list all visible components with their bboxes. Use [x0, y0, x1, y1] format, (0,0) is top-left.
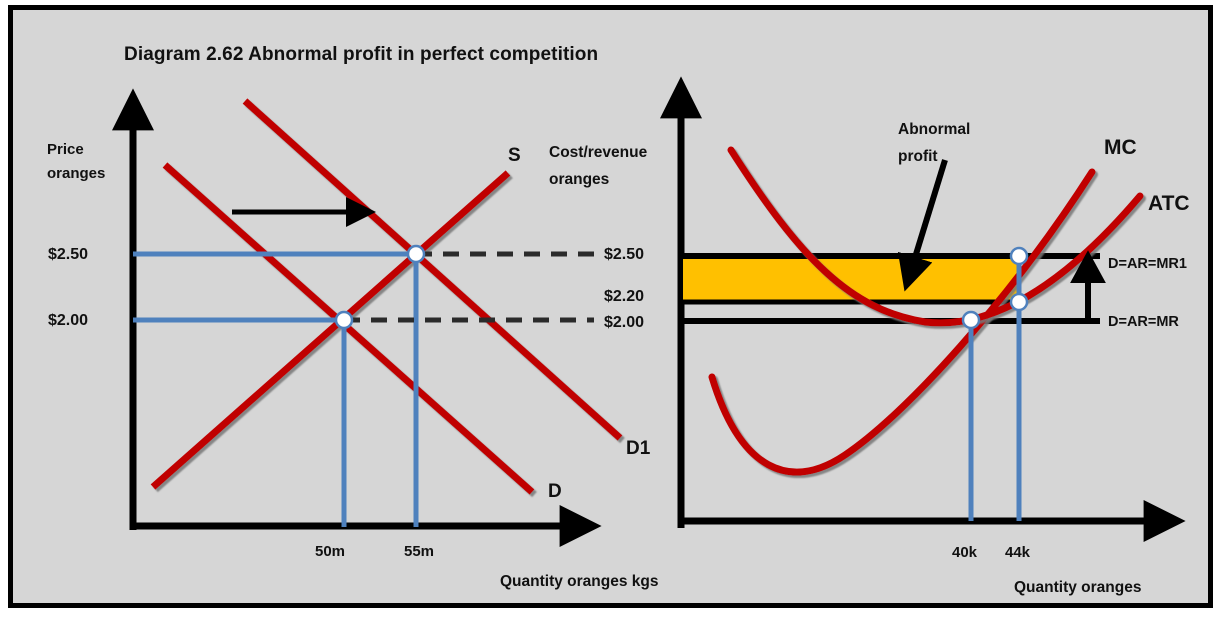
- abnormal-profit-label-line2: profit: [898, 147, 938, 168]
- left-price-tick-200: $2.00: [48, 310, 88, 332]
- cost-revenue-label-line1: Cost/revenue: [549, 143, 647, 164]
- revenue-line-label-mr1: D=AR=MR1: [1108, 255, 1187, 275]
- right-price-tick-200: $2.00: [604, 312, 644, 334]
- supply-curve-label: S: [508, 143, 521, 169]
- mc-curve-label: MC: [1104, 134, 1137, 162]
- cost-revenue-label-line2: oranges: [549, 170, 609, 191]
- page-title: Diagram 2.62 Abnormal profit in perfect …: [124, 42, 598, 68]
- right-price-tick-250: $2.50: [604, 244, 644, 266]
- left-x-axis-label: Quantity oranges kgs: [500, 572, 658, 593]
- demand-curve-label: D: [548, 479, 562, 505]
- diagram-canvas: Diagram 2.62 Abnormal profit in perfect …: [0, 0, 1221, 625]
- revenue-line-label-mr: D=AR=MR: [1108, 313, 1179, 333]
- abnormal-profit-label-line1: Abnormal: [898, 120, 970, 141]
- left-price-tick-250: $2.50: [48, 244, 88, 266]
- left-quantity-tick-50m: 50m: [315, 542, 345, 562]
- right-quantity-tick-40k: 40k: [952, 543, 977, 563]
- right-price-tick-220: $2.20: [604, 286, 644, 308]
- right-quantity-tick-44k: 44k: [1005, 543, 1030, 563]
- left-y-axis-label-line2: oranges: [47, 164, 105, 184]
- demand1-curve-label: D1: [626, 436, 650, 462]
- left-quantity-tick-55m: 55m: [404, 542, 434, 562]
- left-y-axis-label-line1: Price: [47, 140, 84, 160]
- atc-curve-label: ATC: [1148, 190, 1190, 218]
- right-x-axis-label: Quantity oranges: [1014, 578, 1141, 599]
